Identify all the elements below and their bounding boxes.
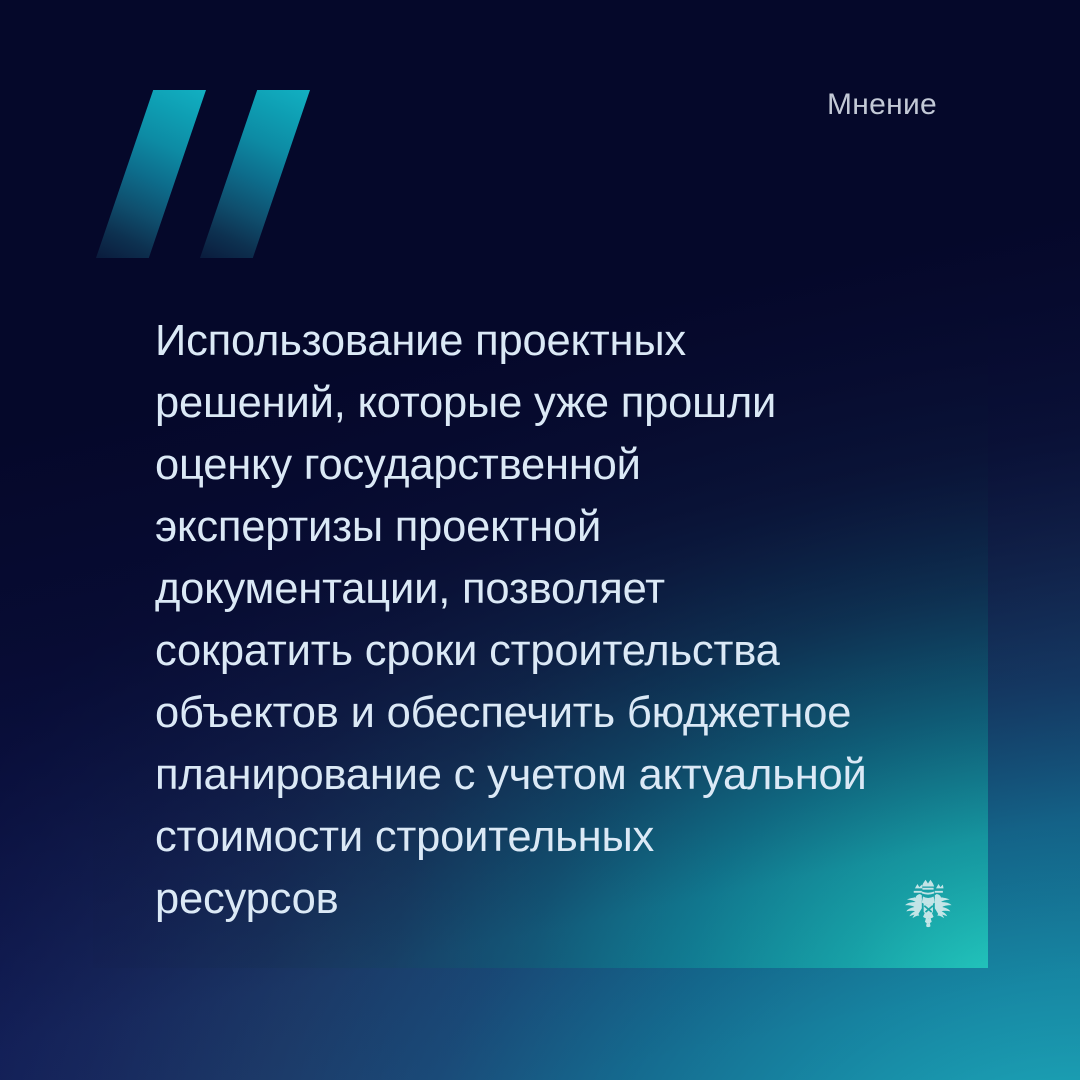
- quote-line: ресурсов: [155, 868, 965, 930]
- quote-mark-stroke-left: [96, 90, 206, 258]
- quote-line: экспертизы проектной: [155, 496, 965, 558]
- quote-mark-stroke-right: [200, 90, 310, 258]
- quote-line: Использование проектных: [155, 310, 965, 372]
- social-card-canvas: Мнение Использование проектных решений, …: [0, 0, 1080, 1080]
- quote-line: объектов и обеспечить бюджетное: [155, 682, 965, 744]
- russian-double-headed-eagle-emblem-icon: [897, 876, 959, 938]
- quote-line: решений, которые уже прошли: [155, 372, 965, 434]
- quote-line: планирование с учетом актуальной: [155, 744, 965, 806]
- quote-mark-icon: [96, 90, 308, 258]
- quote-line: стоимости строительных: [155, 806, 965, 868]
- quote-line: документации, позволяет: [155, 558, 965, 620]
- category-label: Мнение: [827, 88, 937, 122]
- quote-text: Использование проектных решений, которые…: [155, 310, 965, 930]
- quote-line: сократить сроки строительства: [155, 620, 965, 682]
- quote-line: оценку государственной: [155, 434, 965, 496]
